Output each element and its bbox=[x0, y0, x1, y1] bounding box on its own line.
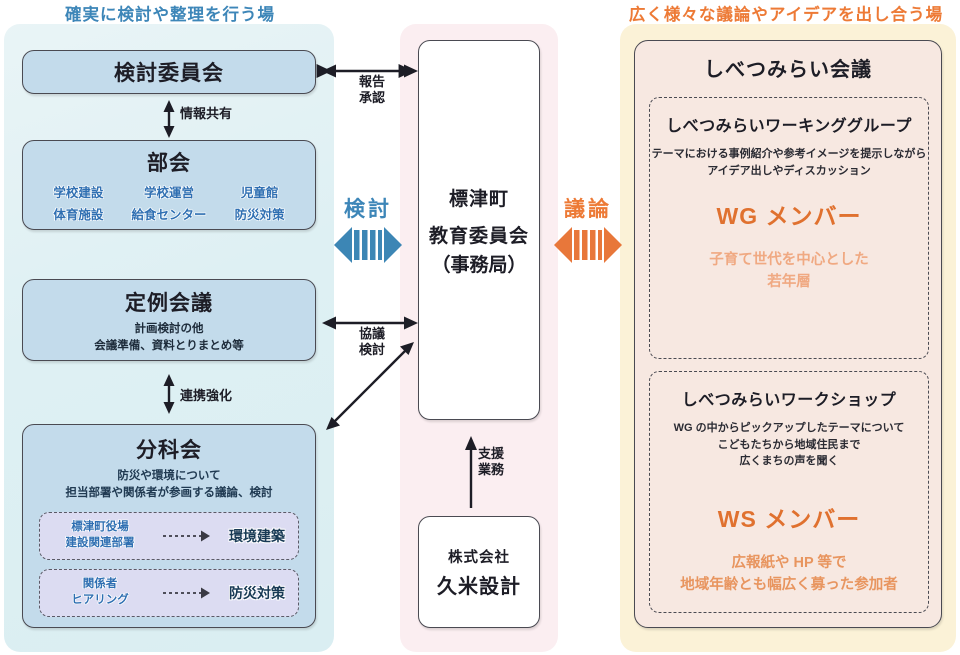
bunkakai-row[interactable]: 関係者 ヒアリング 防災対策 bbox=[39, 569, 299, 617]
bukai-item: 学校建設 bbox=[33, 182, 124, 201]
bunkakai-title: 分科会 bbox=[23, 434, 315, 464]
workshop-title: しべつみらいワークショップ bbox=[650, 386, 928, 410]
wg-member-title: WG メンバー bbox=[650, 197, 928, 231]
kentou-iinkai-title: 検討委員会 bbox=[114, 57, 224, 87]
bunkakai-row-target: 防災対策 bbox=[216, 583, 298, 603]
kume-line2: 久米設計 bbox=[437, 570, 521, 599]
label-shien-gyoumu: 支援 業務 bbox=[478, 446, 530, 479]
bukai-title: 部会 bbox=[23, 147, 315, 177]
kyoiku-line3: （事務局） bbox=[431, 250, 526, 277]
bukai-item: 給食センター bbox=[124, 204, 215, 223]
label-kyougi-kentou: 協議 検討 bbox=[340, 326, 404, 359]
working-group-desc: テーマにおける事例紹介や参考イメージを提示しながら アイデア出しやディスカッショ… bbox=[650, 146, 928, 179]
teirei-kaigi-desc: 計画検討の他 会議準備、資料とりまとめ等 bbox=[23, 321, 315, 354]
label-giron-big: 議論 bbox=[552, 193, 624, 223]
left-column-header: 確実に検討や整理を行う場 bbox=[0, 1, 340, 25]
working-group-title: しべつみらいワーキンググループ bbox=[650, 112, 928, 136]
bukai-item: 体育施設 bbox=[33, 204, 124, 223]
kume-line1: 株式会社 bbox=[448, 546, 510, 567]
box-teirei-kaigi[interactable]: 定例会議 計画検討の他 会議準備、資料とりまとめ等 bbox=[22, 279, 316, 361]
striped-arrow-giron-icon bbox=[554, 227, 622, 263]
teirei-kaigi-title: 定例会議 bbox=[23, 287, 315, 317]
box-kyoiku-iinkai[interactable]: 標津町 教育委員会 （事務局） bbox=[418, 40, 540, 420]
box-kentou-iinkai[interactable]: 検討委員会 bbox=[22, 50, 316, 94]
kyoiku-line1: 標津町 bbox=[449, 184, 509, 211]
box-kume-sekkei[interactable]: 株式会社 久米設計 bbox=[418, 516, 540, 628]
diagram-root: 確実に検討や整理を行う場 広く様々な議論やアイデアを出し合う場 検討委員会 部会… bbox=[0, 0, 960, 655]
label-houkoku-shounin: 報告 承認 bbox=[340, 74, 404, 107]
shibetsu-mirai-kaigi-title: しべつみらい会議 bbox=[635, 53, 941, 82]
bunkakai-row-target: 環境建築 bbox=[216, 526, 298, 546]
bunkakai-row[interactable]: 標津町役場 建設関連部署 環境建築 bbox=[39, 512, 299, 560]
striped-arrow-kentou-icon bbox=[334, 227, 402, 263]
dotted-arrow-icon bbox=[160, 529, 216, 543]
wg-member-desc: 子育て世代を中心とした 若年層 bbox=[650, 249, 928, 294]
box-shibetsu-mirai-kaigi[interactable]: しべつみらい会議 しべつみらいワーキンググループ テーマにおける事例紹介や参考イ… bbox=[634, 40, 942, 628]
bukai-item-list: 学校建設 学校運営 児童館 体育施設 給食センター 防災対策 bbox=[23, 182, 315, 223]
label-jouhou-kyouyuu: 情報共有 bbox=[180, 106, 270, 122]
bukai-item: 防災対策 bbox=[214, 204, 305, 223]
kyoiku-line2: 教育委員会 bbox=[429, 221, 529, 248]
box-workshop[interactable]: しべつみらいワークショップ WG の中からピックアップしたテーマについて こども… bbox=[649, 371, 929, 613]
ws-member-desc: 広報紙や HP 等で 地域年齢とも幅広く募った参加者 bbox=[650, 552, 928, 597]
box-bukai[interactable]: 部会 学校建設 学校運営 児童館 体育施設 給食センター 防災対策 bbox=[22, 140, 316, 230]
ws-member-title: WS メンバー bbox=[650, 500, 928, 534]
bukai-item: 学校運営 bbox=[124, 182, 215, 201]
bunkakai-row-source: 関係者 ヒアリング bbox=[40, 577, 160, 608]
label-kentou-big: 検討 bbox=[332, 193, 404, 223]
workshop-desc: WG の中からピックアップしたテーマについて こどもたちから地域住民まで 広くま… bbox=[650, 420, 928, 470]
box-working-group[interactable]: しべつみらいワーキンググループ テーマにおける事例紹介や参考イメージを提示しなが… bbox=[649, 97, 929, 359]
bunkakai-desc: 防災や環境について 担当部署や関係者が参画する議論、検討 bbox=[23, 468, 315, 503]
bunkakai-row-source: 標津町役場 建設関連部署 bbox=[40, 520, 160, 551]
box-bunkakai[interactable]: 分科会 防災や環境について 担当部署や関係者が参画する議論、検討 標津町役場 建… bbox=[22, 424, 316, 628]
label-renkei-kyouka: 連携強化 bbox=[180, 388, 276, 404]
bukai-item: 児童館 bbox=[214, 182, 305, 201]
dotted-arrow-icon bbox=[160, 586, 216, 600]
right-column-header: 広く様々な議論やアイデアを出し合う場 bbox=[612, 1, 960, 25]
